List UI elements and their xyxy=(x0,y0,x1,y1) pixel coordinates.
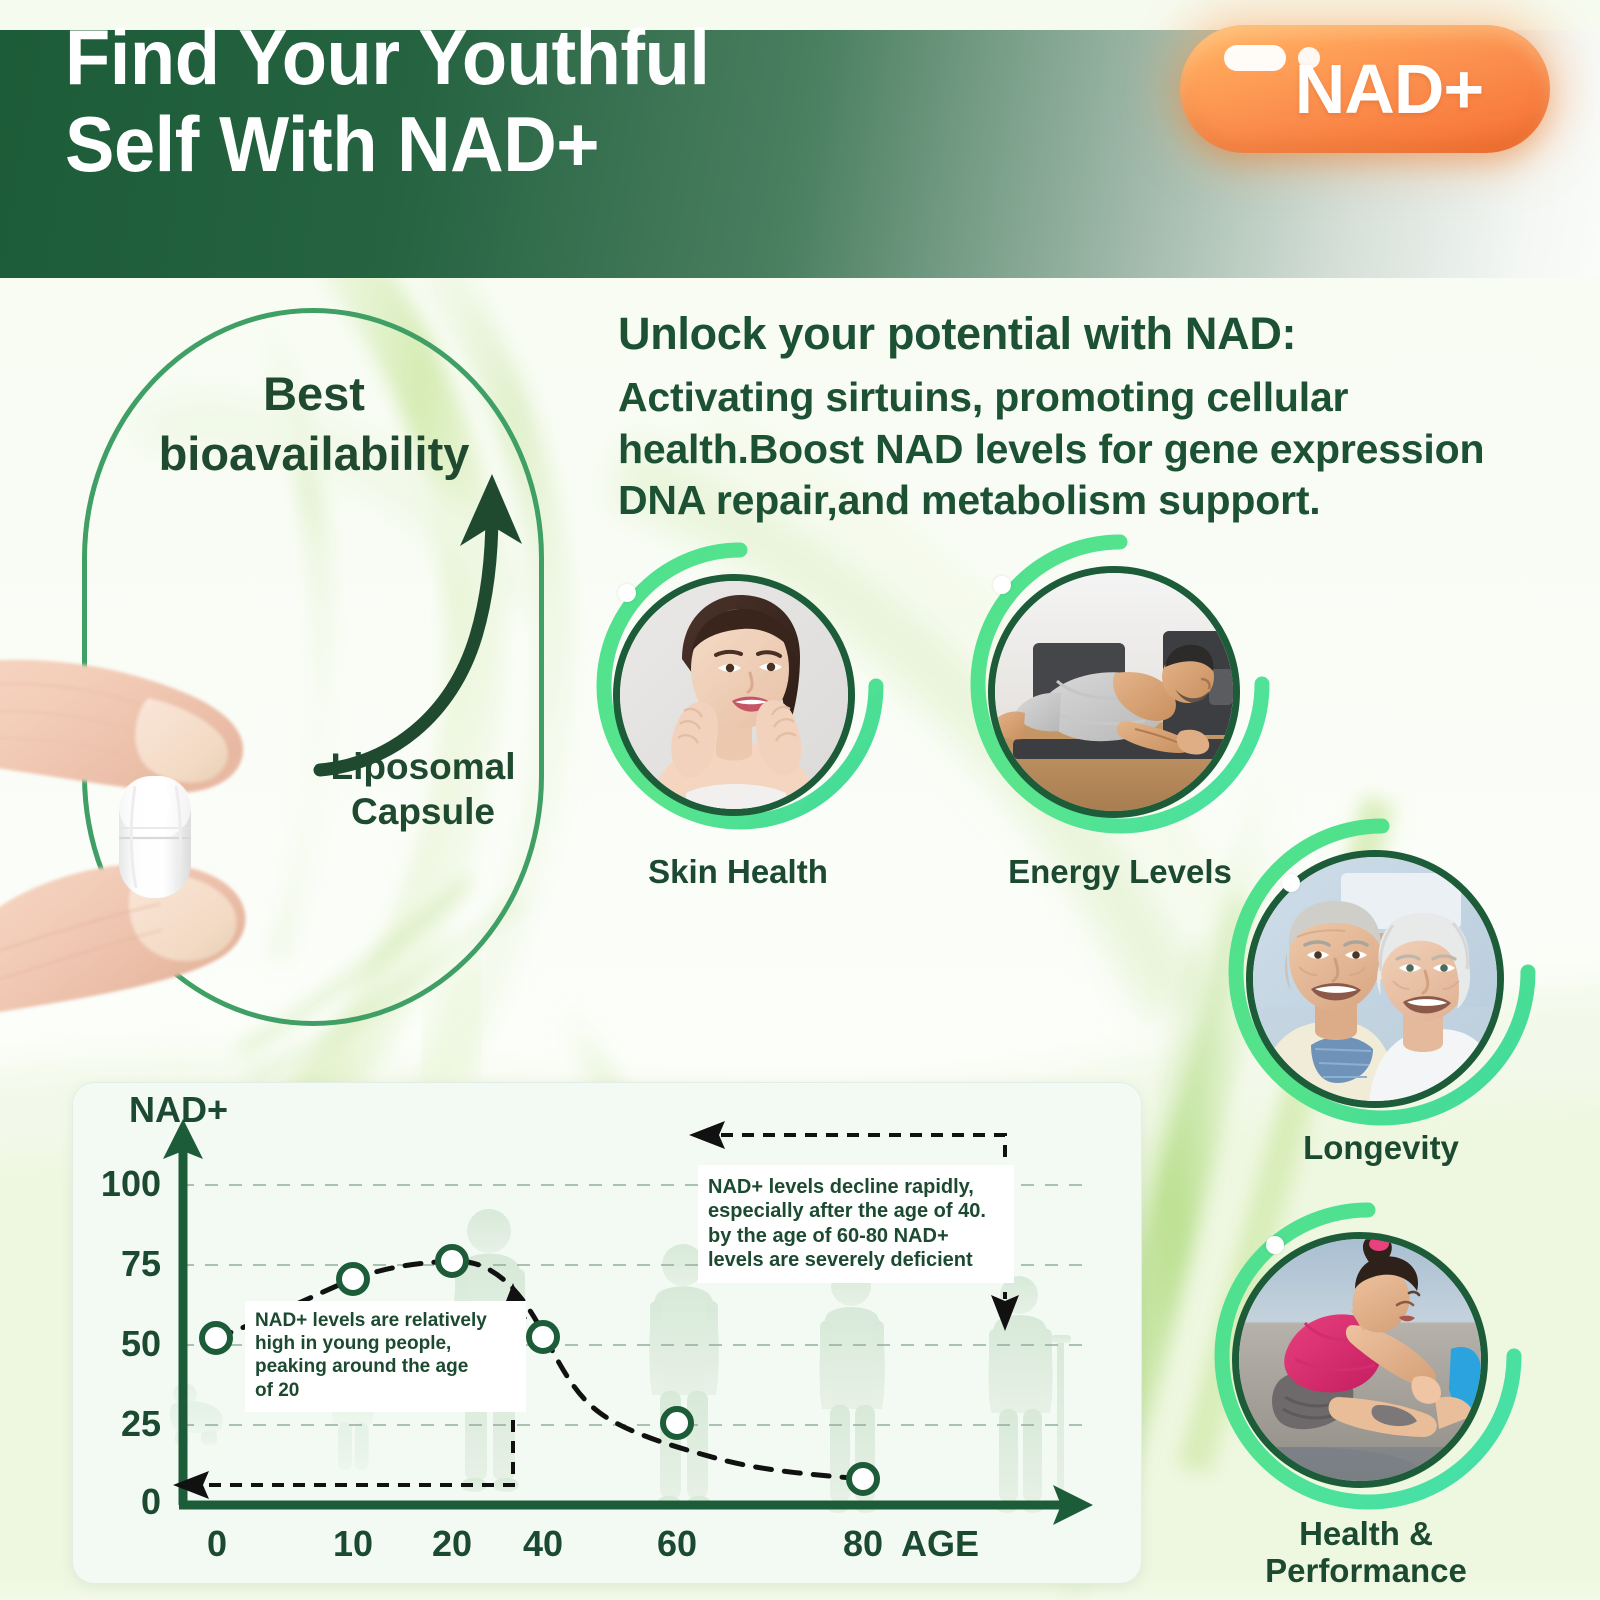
nad-plus-badge-label: NAD+ xyxy=(1180,25,1550,153)
badge-arc-start-dot-icon xyxy=(1282,874,1300,892)
chart-xtick-20: 20 xyxy=(421,1523,483,1565)
point-age-10 xyxy=(339,1265,367,1293)
health-performance-stretch-photo xyxy=(1239,1239,1481,1481)
chart-xtick-10: 10 xyxy=(322,1523,384,1565)
best-bio-line1: Best xyxy=(263,367,365,420)
liposomal-capsule-label: Liposomal Capsule xyxy=(318,744,528,834)
page-title-line1: Find Your Youthful xyxy=(65,13,710,101)
nad-plus-badge: NAD+ xyxy=(1180,25,1550,153)
page-title-line2: Self With NAD+ xyxy=(65,101,1044,188)
intro-body: Activating sirtuins, promoting cellular … xyxy=(618,372,1523,527)
annotation-2-line1: NAD+ levels decline rapidly, xyxy=(708,1176,974,1198)
woman-touching-face-photo xyxy=(613,574,855,816)
annotation-1-arrow-left xyxy=(173,1471,209,1499)
health-performance-line2: Performance xyxy=(1265,1552,1467,1589)
chart-ytick-0: 0 xyxy=(89,1481,161,1523)
point-age-0 xyxy=(202,1324,230,1352)
energy-levels-gym-photo xyxy=(995,573,1233,811)
growth-arrow-icon xyxy=(300,440,540,790)
intro-body-line2: health.Boost NAD levels for gene express… xyxy=(618,426,1484,472)
annotation-1-line4: of 20 xyxy=(255,1380,299,1401)
nad-decline-chart-panel: NAD+ 100 75 50 25 0 0 10 20 40 60 80 AGE… xyxy=(72,1082,1142,1584)
chart-annotation-young-peak: NAD+ levels are relatively high in young… xyxy=(245,1301,526,1412)
chart-ytick-50: 50 xyxy=(89,1323,161,1365)
point-age-80 xyxy=(849,1465,877,1493)
page-title: Find Your Youthful Self With NAD+ xyxy=(65,14,1044,189)
liposomal-line1: Liposomal xyxy=(330,746,515,787)
chart-xtick-60: 60 xyxy=(646,1523,708,1565)
chart-xtick-0: 0 xyxy=(186,1523,248,1565)
badge-arc-start-dot-icon xyxy=(993,576,1011,594)
liposomal-line2: Capsule xyxy=(351,791,495,832)
point-age-20 xyxy=(438,1247,466,1275)
chart-y-axis-title: NAD+ xyxy=(129,1089,228,1131)
benefit-badge-skin-health[interactable]: Skin Health xyxy=(588,536,888,936)
badge-arc-start-dot-icon xyxy=(618,584,636,602)
infographic-root: Find Your Youthful Self With NAD+ NAD+ B… xyxy=(0,0,1600,1600)
chart-ytick-100: 100 xyxy=(89,1163,161,1205)
man-doing-plank-photo xyxy=(988,566,1240,818)
chart-xtick-40: 40 xyxy=(512,1523,574,1565)
benefit-label-skin-health: Skin Health xyxy=(588,854,888,891)
annotation-2-arrow-left xyxy=(689,1121,725,1149)
intro-body-line1: Activating sirtuins, promoting cellular xyxy=(618,374,1348,420)
chart-annotation-rapid-decline: NAD+ levels decline rapidly, especially … xyxy=(698,1165,1014,1283)
benefit-label-health-performance: Health & Performance xyxy=(1196,1516,1536,1590)
benefit-badge-longevity[interactable]: Longevity xyxy=(1216,812,1546,1192)
annotation-2-line3: by the age of 60-80 NAD+ xyxy=(708,1225,949,1247)
health-performance-line1: Health & xyxy=(1299,1515,1433,1552)
curved-up-arrow xyxy=(300,440,540,790)
longevity-couple-photo xyxy=(1253,857,1497,1101)
benefit-badge-health-performance[interactable]: Health & Performance xyxy=(1196,1196,1536,1596)
annotation-2-line2: especially after the age of 40. xyxy=(708,1200,986,1222)
woman-stretching-photo xyxy=(1232,1232,1488,1488)
annotation-1-line2: high in young people, xyxy=(255,1333,451,1354)
chart-x-axis-title: AGE xyxy=(901,1523,979,1565)
intro-body-line3: DNA repair,and metabolism support. xyxy=(618,477,1320,523)
point-age-60 xyxy=(663,1409,691,1437)
nad-vs-age-chart xyxy=(73,1083,1141,1583)
intro-heading: Unlock your potential with NAD: xyxy=(618,308,1518,360)
annotation-2-line4: levels are severely deficient xyxy=(708,1249,973,1271)
chart-ytick-25: 25 xyxy=(89,1403,161,1445)
chart-xtick-80: 80 xyxy=(832,1523,894,1565)
annotation-1-line1: NAD+ levels are relatively xyxy=(255,1310,487,1331)
silhouette-adult-40 xyxy=(649,1244,719,1510)
chart-ytick-75: 75 xyxy=(89,1243,161,1285)
annotation-1-line3: peaking around the age xyxy=(255,1356,468,1377)
benefit-label-longevity: Longevity xyxy=(1216,1130,1546,1167)
skin-health-portrait xyxy=(620,581,848,809)
point-age-40 xyxy=(529,1323,557,1351)
badge-arc-start-dot-icon xyxy=(1266,1236,1284,1254)
